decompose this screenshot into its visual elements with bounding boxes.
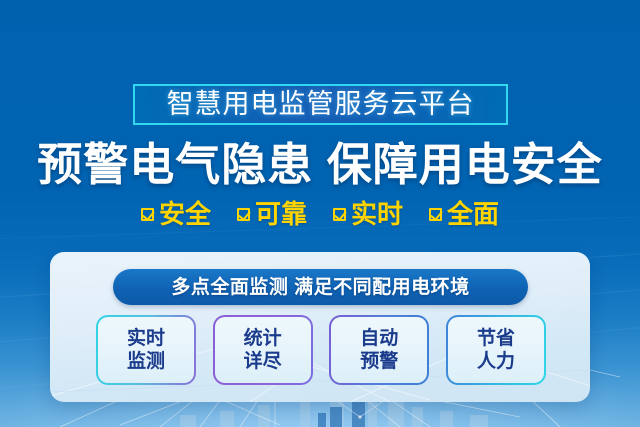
feature-card-line2: 详尽 — [244, 351, 282, 373]
feature-card-line1: 实时 — [127, 328, 165, 350]
feature-check-row: 安全 可靠 实时 全面 — [0, 199, 640, 229]
feature-label-2: 实时 — [351, 201, 403, 227]
feature-card-list: 实时 监测 统计 详尽 自动 预警 节省 人力 — [96, 314, 546, 386]
feature-card-line1: 节省 — [477, 328, 515, 350]
panel-pill-banner: 多点全面监测 满足不同配用电环境 — [113, 269, 528, 305]
checkbox-checked-icon — [333, 208, 346, 221]
feature-label-1: 可靠 — [255, 201, 307, 227]
feature-item-1: 可靠 — [237, 201, 307, 227]
feature-card-line2: 监测 — [127, 351, 165, 373]
feature-item-2: 实时 — [333, 201, 403, 227]
feature-card-detailed-statistics[interactable]: 统计 详尽 — [213, 315, 313, 385]
panel-pill-text: 多点全面监测 满足不同配用电环境 — [171, 278, 469, 297]
feature-item-3: 全面 — [429, 201, 499, 227]
feature-card-auto-alert[interactable]: 自动 预警 — [329, 315, 429, 385]
feature-card-line2: 预警 — [360, 351, 398, 373]
platform-title-box: 智慧用电监管服务云平台 — [133, 84, 508, 125]
feature-label-0: 安全 — [159, 201, 211, 227]
feature-label-3: 全面 — [447, 201, 499, 227]
feature-card-realtime-monitoring[interactable]: 实时 监测 — [96, 315, 196, 385]
headline: 预警电气隐患 保障用电安全 — [0, 139, 640, 191]
feature-card-save-manpower[interactable]: 节省 人力 — [446, 315, 546, 385]
feature-card-line2: 人力 — [477, 351, 515, 373]
feature-card-inner: 自动 预警 — [331, 317, 427, 383]
checkbox-checked-icon — [429, 208, 442, 221]
banner-stage: 智慧用电监管服务云平台 预警电气隐患 保障用电安全 安全 可靠 实时 全面 — [0, 0, 640, 427]
checkbox-checked-icon — [141, 208, 154, 221]
feature-card-inner: 节省 人力 — [448, 317, 544, 383]
platform-title-text: 智慧用电监管服务云平台 — [167, 91, 475, 118]
feature-item-0: 安全 — [141, 201, 211, 227]
feature-card-line1: 统计 — [244, 328, 282, 350]
feature-card-inner: 实时 监测 — [98, 317, 194, 383]
feature-card-line1: 自动 — [360, 328, 398, 350]
checkbox-checked-icon — [237, 208, 250, 221]
highlight-panel: 多点全面监测 满足不同配用电环境 实时 监测 统计 详尽 自动 预警 — [50, 252, 590, 402]
feature-card-inner: 统计 详尽 — [215, 317, 311, 383]
headline-text: 预警电气隐患 保障用电安全 — [37, 139, 603, 190]
